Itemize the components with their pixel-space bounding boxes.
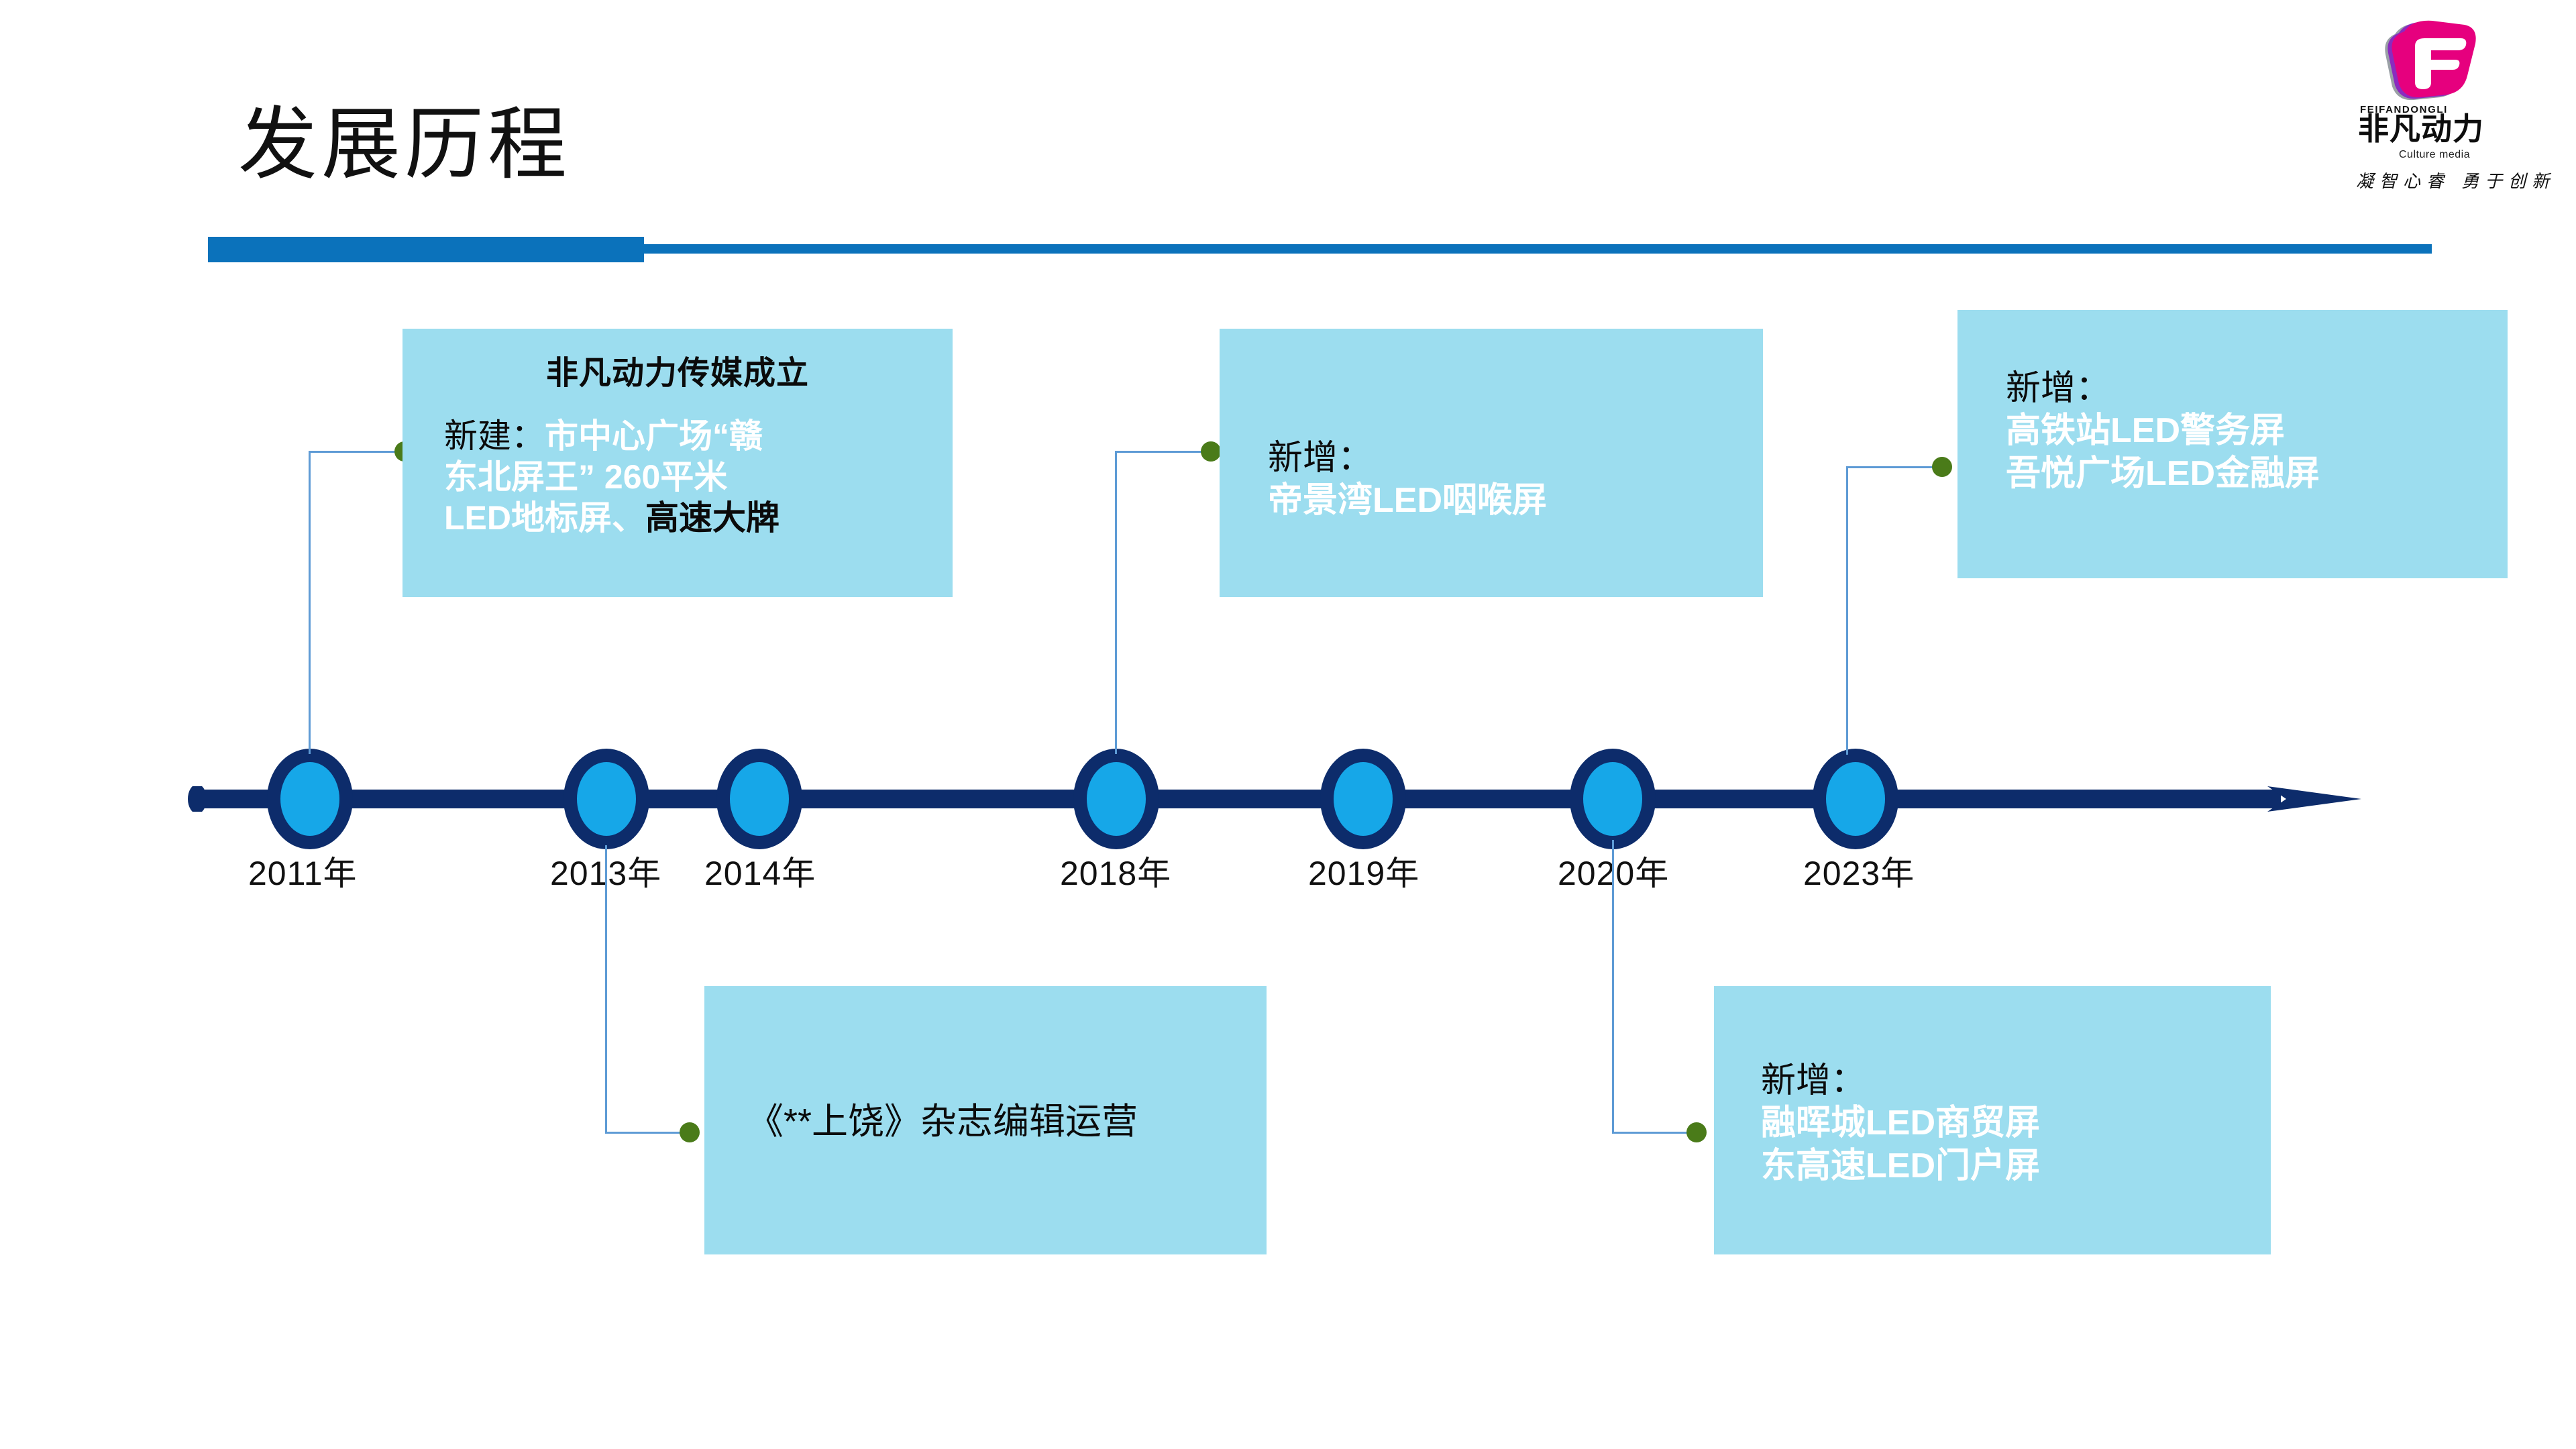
logo-f-mark-icon — [2376, 17, 2477, 104]
connector-2018-horizontal — [1115, 451, 1209, 453]
card-2011-line1-prefix: 新建： — [444, 417, 545, 455]
card-shadow-2011 — [389, 593, 953, 645]
card-2020[interactable]: 新增： 融晖城LED商贸屏 东高速LED门户屏 — [1714, 986, 2271, 1254]
timeline-node-2014[interactable] — [716, 749, 802, 849]
node-inner-dot — [1826, 762, 1885, 836]
logo-subtitle: Culture media — [2399, 149, 2470, 161]
node-inner-dot — [1334, 762, 1393, 836]
node-inner-dot — [730, 762, 789, 836]
timeline-node-2020[interactable] — [1570, 749, 1656, 849]
card-2013-body: 《**上饶》杂志编辑运营 — [704, 986, 1267, 1144]
title-accent-rule — [641, 244, 2432, 254]
card-shadow-2023 — [1945, 577, 2509, 629]
timeline-node-2013[interactable] — [563, 749, 649, 849]
connector-2011-vertical — [309, 451, 311, 754]
year-label-2023: 2023年 — [1803, 847, 1915, 895]
year-label-2011: 2011年 — [248, 847, 358, 895]
card-2013[interactable]: 《**上饶》杂志编辑运营 — [704, 986, 1267, 1254]
card-2018-label: 新增： — [1268, 437, 1763, 480]
connector-2023-horizontal — [1846, 466, 1940, 468]
card-shadow-2013 — [698, 1249, 1288, 1305]
card-2020-line1: 融晖城LED商贸屏 — [1761, 1102, 2271, 1144]
card-2011-line3-main: LED地标屏、 — [444, 499, 645, 537]
card-2011-body: 新建：市中心广场“赣 东北屏王” 260平米 LED地标屏、高速大牌 — [402, 393, 953, 539]
card-2018-line1: 帝景湾LED咽喉屏 — [1268, 480, 1763, 522]
year-label-2019: 2019年 — [1308, 847, 1419, 895]
node-inner-dot — [280, 762, 339, 836]
card-2020-label: 新增： — [1761, 1060, 2271, 1102]
card-2020-body: 新增： 融晖城LED商贸屏 东高速LED门户屏 — [1714, 986, 2271, 1187]
connector-dot-2018 — [1201, 441, 1221, 462]
card-2020-line2: 东高速LED门户屏 — [1761, 1145, 2271, 1187]
card-2011-line3-suffix: 高速大牌 — [645, 499, 780, 537]
node-inner-dot — [1087, 762, 1146, 836]
card-2023-label: 新增： — [2006, 368, 2508, 410]
connector-2011-horizontal — [309, 451, 401, 453]
card-2011[interactable]: 非凡动力传媒成立 新建：市中心广场“赣 东北屏王” 260平米 LED地标屏、高… — [402, 329, 953, 597]
card-2023-body: 新增： 高铁站LED警务屏 吾悦广场LED金融屏 — [1957, 310, 2508, 495]
timeline-node-2023[interactable] — [1813, 749, 1898, 849]
card-2023-line1: 高铁站LED警务屏 — [2006, 410, 2508, 452]
card-2011-line1-main: 市中心广场“赣 — [545, 417, 763, 455]
connector-dot-2023 — [1932, 457, 1952, 477]
logo-tagline: 凝智心睿 勇于创新 — [2356, 168, 2555, 193]
connector-2018-vertical — [1115, 451, 1117, 754]
logo-company-name: 非凡动力 — [2358, 113, 2484, 144]
card-shadow-2020 — [1704, 1249, 2281, 1305]
timeline-node-2011[interactable] — [267, 749, 353, 849]
card-2018-body: 新增： 帝景湾LED咽喉屏 — [1220, 329, 1763, 523]
card-2013-text: 《**上饶》杂志编辑运营 — [747, 1100, 1267, 1144]
title-accent-bar — [208, 237, 644, 262]
timeline-node-2019[interactable] — [1320, 749, 1406, 849]
connector-2020-horizontal — [1612, 1132, 1696, 1134]
connector-dot-2020 — [1686, 1122, 1707, 1142]
year-label-2014: 2014年 — [704, 847, 816, 895]
company-logo: FEIFANDONGLI 非凡动力 Culture media 凝智心睿 勇于创… — [2341, 17, 2563, 225]
node-inner-dot — [1583, 762, 1642, 836]
card-2011-title: 非凡动力传媒成立 — [402, 329, 953, 393]
card-2023-line2: 吾悦广场LED金融屏 — [2006, 453, 2508, 495]
connector-2023-vertical — [1846, 466, 1848, 755]
page-title: 发展历程 — [238, 104, 571, 187]
card-shadow-2018 — [1207, 593, 1764, 645]
timeline-axis — [188, 786, 2361, 812]
timeline-node-2018[interactable] — [1073, 749, 1159, 849]
node-inner-dot — [577, 762, 636, 836]
connector-dot-2013 — [680, 1122, 700, 1142]
card-2018[interactable]: 新增： 帝景湾LED咽喉屏 — [1220, 329, 1763, 597]
connector-2020-vertical — [1612, 840, 1614, 1134]
year-label-2018: 2018年 — [1060, 847, 1171, 895]
card-2011-line2: 东北屏王” 260平米 — [444, 457, 953, 498]
connector-2013-horizontal — [605, 1132, 689, 1134]
card-2023[interactable]: 新增： 高铁站LED警务屏 吾悦广场LED金融屏 — [1957, 310, 2508, 578]
connector-2013-vertical — [605, 845, 607, 1134]
